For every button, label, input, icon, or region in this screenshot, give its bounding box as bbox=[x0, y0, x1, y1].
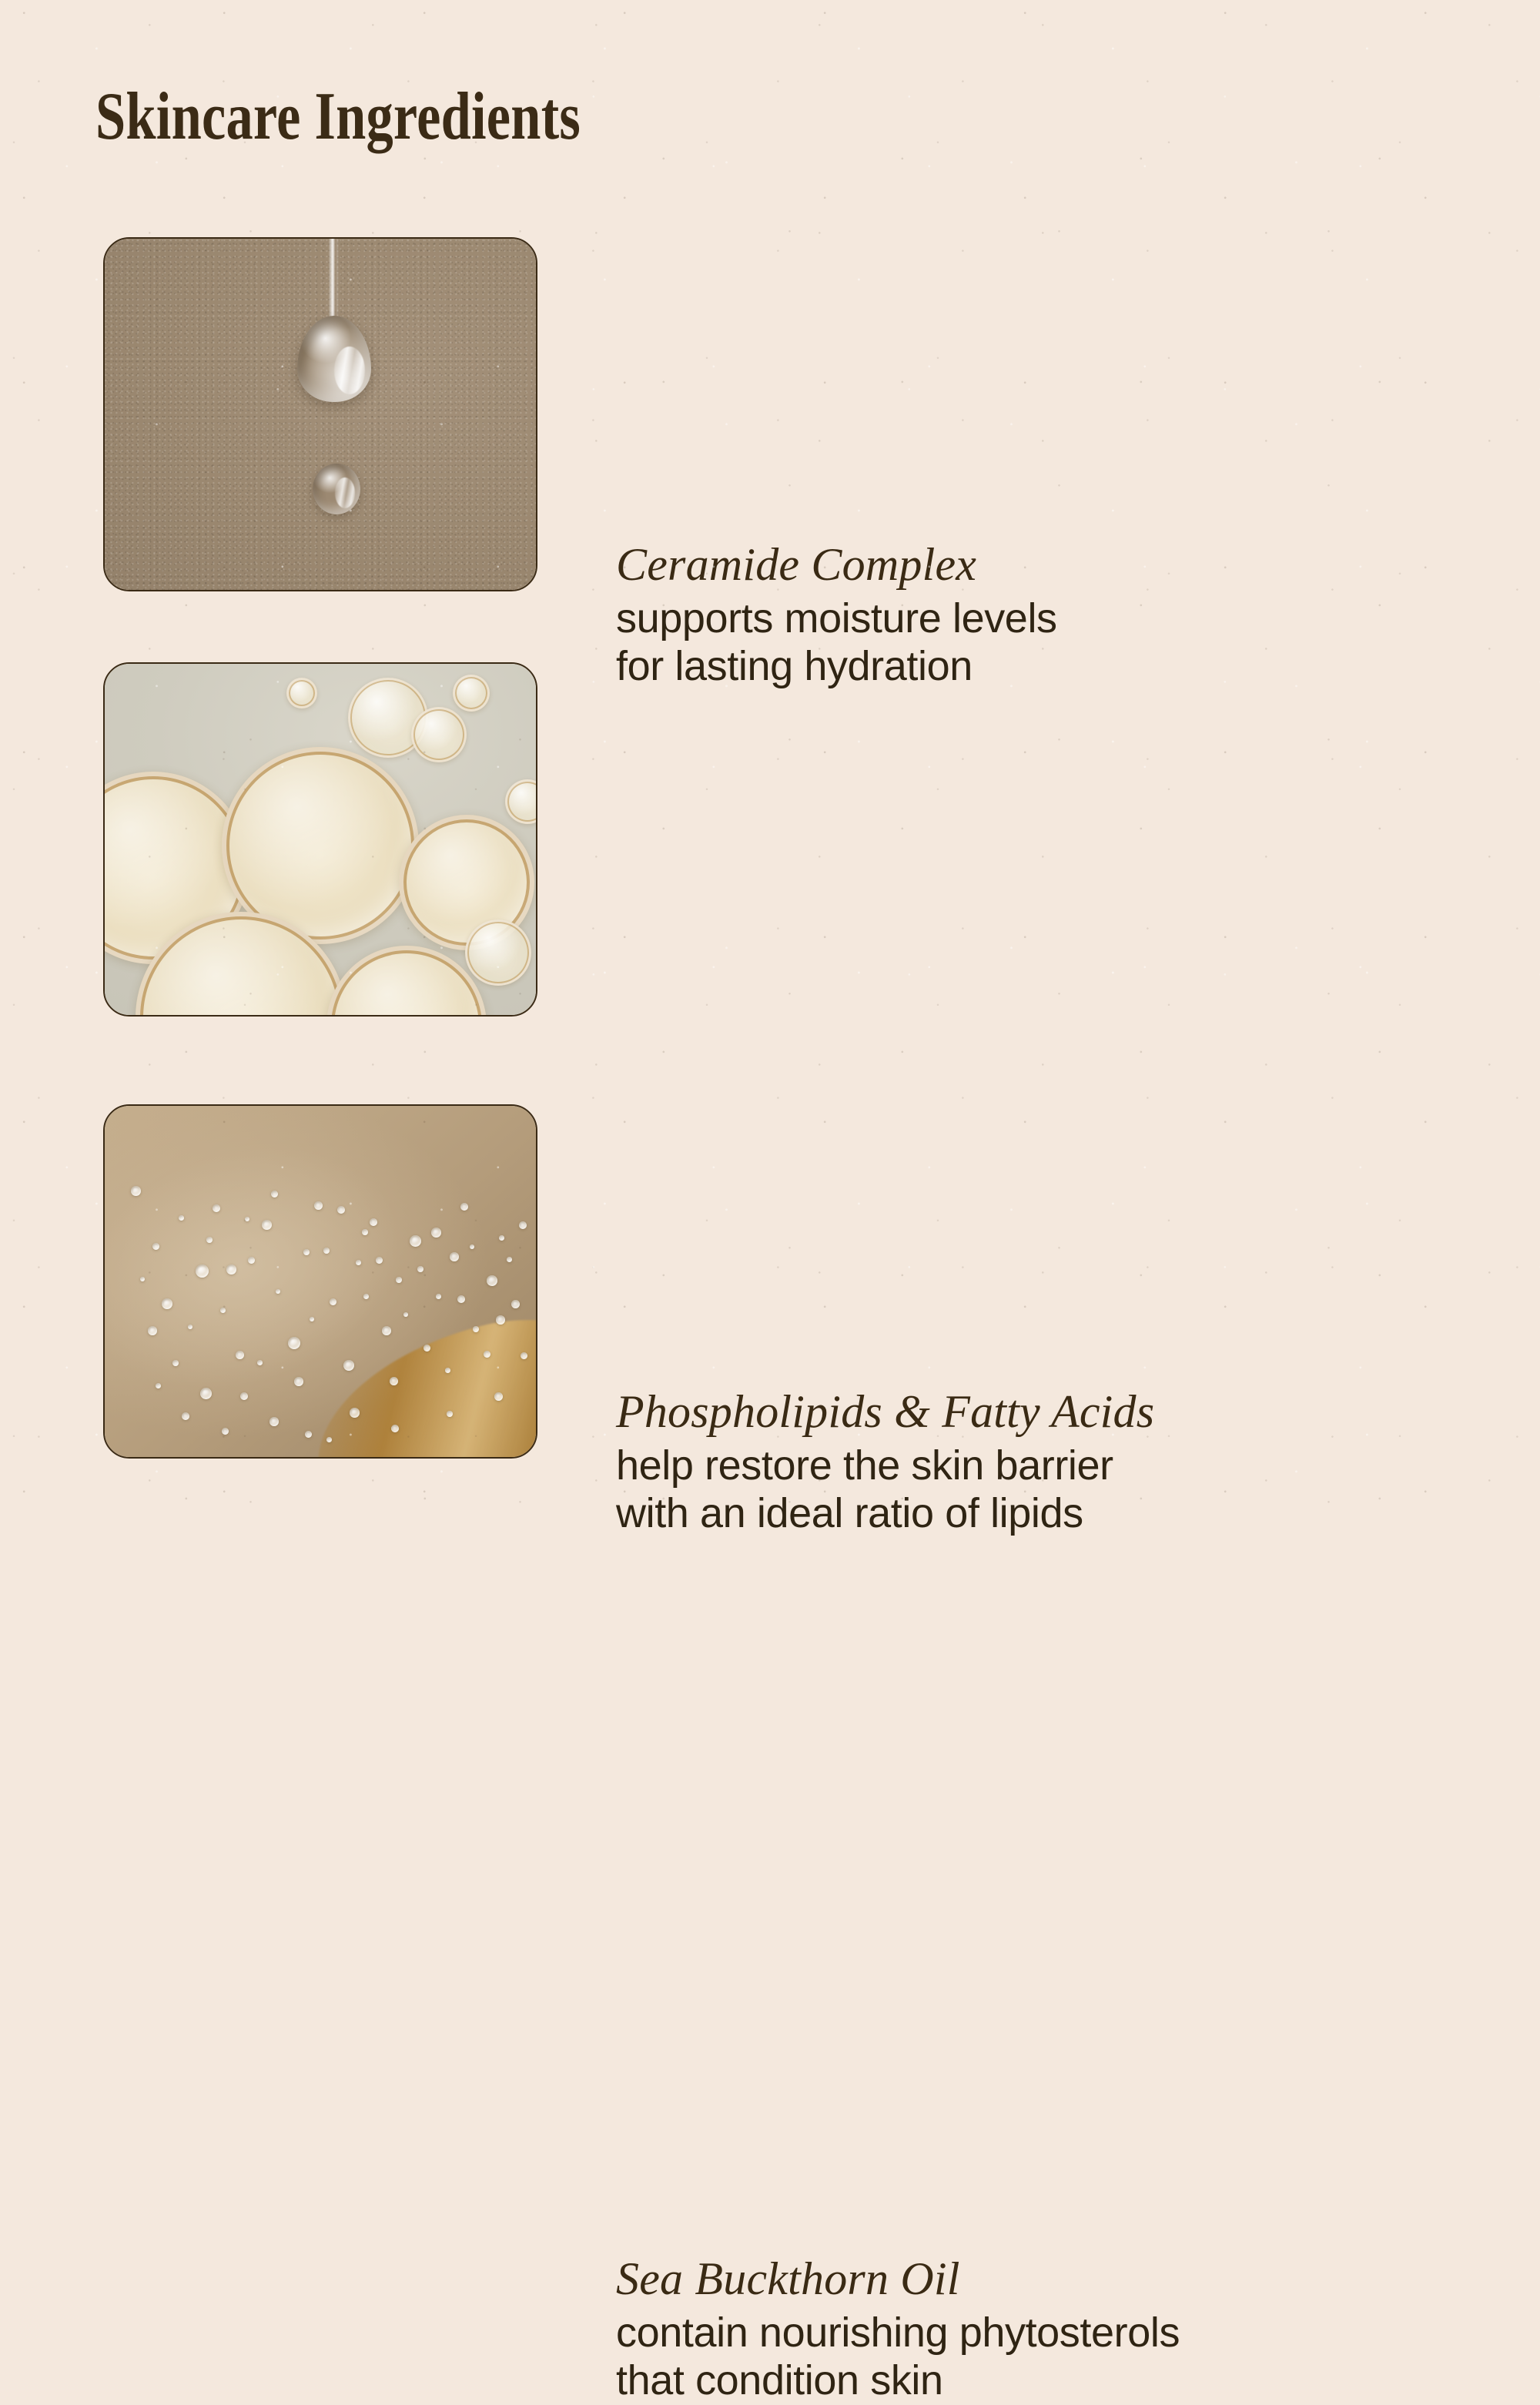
micro-bubble bbox=[330, 1298, 336, 1305]
page-title: Skincare Ingredients bbox=[95, 82, 581, 152]
ingredient-heading-1: Ceramide Complex bbox=[616, 541, 1057, 590]
micro-bubble bbox=[370, 1218, 377, 1226]
micro-bubble bbox=[152, 1243, 159, 1250]
micro-bubble bbox=[470, 1244, 474, 1249]
micro-bubble bbox=[460, 1203, 468, 1211]
ingredient-text-2: Phospholipids & Fatty Acids help restore… bbox=[616, 1388, 1154, 1538]
micro-bubble bbox=[484, 1351, 490, 1358]
ingredient-body-3-line-2: that condition skin bbox=[616, 2356, 1180, 2405]
ingredient-body-1: supports moisture levels for lasting hyd… bbox=[616, 595, 1057, 691]
micro-bubble bbox=[310, 1317, 314, 1321]
micro-bubble bbox=[343, 1360, 354, 1371]
serum-stream bbox=[329, 237, 338, 328]
micro-bubble bbox=[148, 1326, 157, 1335]
ingredient-body-3-line-1: contain nourishing phytosterols bbox=[616, 2309, 1180, 2357]
infographic-page: Skincare Ingredients Ceramide Complex su… bbox=[0, 0, 1540, 1540]
micro-bubble bbox=[410, 1235, 421, 1247]
micro-bubble bbox=[220, 1308, 226, 1313]
micro-bubble bbox=[236, 1351, 244, 1359]
micro-bubble bbox=[356, 1260, 361, 1265]
micro-bubble bbox=[396, 1277, 402, 1283]
ingredient-body-2-line-1: help restore the skin barrier bbox=[616, 1442, 1154, 1490]
micro-bubble bbox=[423, 1345, 430, 1352]
oil-bubble-small bbox=[411, 707, 467, 762]
micro-bubble bbox=[496, 1315, 505, 1325]
micro-bubble bbox=[200, 1388, 212, 1399]
micro-bubble bbox=[305, 1431, 312, 1438]
oil-bubble-small bbox=[286, 678, 317, 708]
tile-grain bbox=[105, 239, 536, 590]
micro-bubble bbox=[323, 1248, 330, 1254]
micro-bubble bbox=[131, 1186, 141, 1196]
micro-bubble bbox=[350, 1408, 360, 1418]
micro-bubble bbox=[473, 1326, 479, 1332]
micro-bubble bbox=[172, 1360, 179, 1366]
micro-bubble bbox=[450, 1252, 459, 1261]
micro-bubble bbox=[337, 1206, 345, 1214]
micro-bubble bbox=[248, 1257, 255, 1264]
micro-bubble bbox=[262, 1220, 272, 1230]
micro-bubble bbox=[494, 1392, 503, 1401]
micro-bubble bbox=[376, 1257, 383, 1264]
micro-bubble bbox=[382, 1326, 391, 1335]
micro-bubble bbox=[445, 1368, 450, 1373]
micro-bubble bbox=[457, 1295, 465, 1303]
micro-bubble bbox=[511, 1300, 520, 1308]
oil-bubble-small bbox=[453, 675, 490, 712]
micro-bubble bbox=[487, 1275, 497, 1286]
micro-bubble bbox=[257, 1360, 263, 1365]
ingredient-image-sea-buckthorn-oil bbox=[103, 1104, 537, 1459]
ingredient-heading-2: Phospholipids & Fatty Acids bbox=[616, 1388, 1154, 1437]
micro-bubble bbox=[140, 1277, 145, 1281]
micro-bubble bbox=[245, 1217, 249, 1221]
micro-bubble bbox=[314, 1201, 323, 1210]
micro-bubble bbox=[521, 1352, 527, 1359]
micro-bubble bbox=[206, 1237, 213, 1243]
ingredient-heading-3: Sea Buckthorn Oil bbox=[616, 2255, 1180, 2304]
micro-bubble bbox=[436, 1294, 441, 1299]
micro-bubble bbox=[499, 1235, 504, 1241]
ingredient-body-2: help restore the skin barrier with an id… bbox=[616, 1442, 1154, 1538]
micro-bubble bbox=[179, 1215, 184, 1221]
micro-bubble bbox=[507, 1257, 512, 1262]
ingredient-body-2-line-2: with an ideal ratio of lipids bbox=[616, 1489, 1154, 1538]
micro-bubble bbox=[156, 1383, 161, 1388]
micro-bubble bbox=[162, 1298, 172, 1309]
micro-bubble bbox=[240, 1392, 248, 1400]
micro-bubble bbox=[447, 1411, 453, 1417]
micro-bubble bbox=[294, 1377, 303, 1386]
oil-bubble-small bbox=[465, 919, 531, 986]
ingredient-image-ceramide-complex bbox=[103, 237, 537, 591]
ingredient-text-1: Ceramide Complex supports moisture level… bbox=[616, 541, 1057, 691]
ingredient-body-1-line-1: supports moisture levels bbox=[616, 595, 1057, 643]
micro-bubble bbox=[417, 1266, 423, 1272]
micro-bubble bbox=[362, 1229, 368, 1235]
micro-bubble bbox=[182, 1412, 189, 1420]
micro-bubble bbox=[271, 1191, 278, 1197]
serum-droplet-small bbox=[313, 464, 360, 514]
micro-bubble bbox=[390, 1377, 398, 1385]
ingredient-image-phospholipids-fatty-acids bbox=[103, 662, 537, 1017]
ingredient-body-1-line-2: for lasting hydration bbox=[616, 642, 1057, 691]
micro-bubble bbox=[403, 1312, 408, 1317]
micro-bubble bbox=[288, 1337, 300, 1349]
micro-bubble bbox=[391, 1425, 399, 1432]
ingredient-text-3: Sea Buckthorn Oil contain nourishing phy… bbox=[616, 2255, 1180, 2405]
micro-bubble bbox=[196, 1264, 209, 1278]
micro-bubble bbox=[213, 1204, 220, 1212]
micro-bubble bbox=[188, 1325, 192, 1329]
ingredient-body-3: contain nourishing phytosterols that con… bbox=[616, 2309, 1180, 2405]
micro-bubble bbox=[303, 1249, 310, 1255]
micro-bubble bbox=[363, 1294, 369, 1299]
micro-bubble bbox=[269, 1417, 279, 1426]
micro-bubble bbox=[431, 1228, 441, 1238]
micro-bubble bbox=[519, 1221, 527, 1229]
micro-bubble bbox=[276, 1289, 280, 1294]
micro-bubble bbox=[326, 1437, 332, 1442]
micro-bubble bbox=[222, 1428, 229, 1435]
micro-bubble bbox=[226, 1264, 236, 1275]
